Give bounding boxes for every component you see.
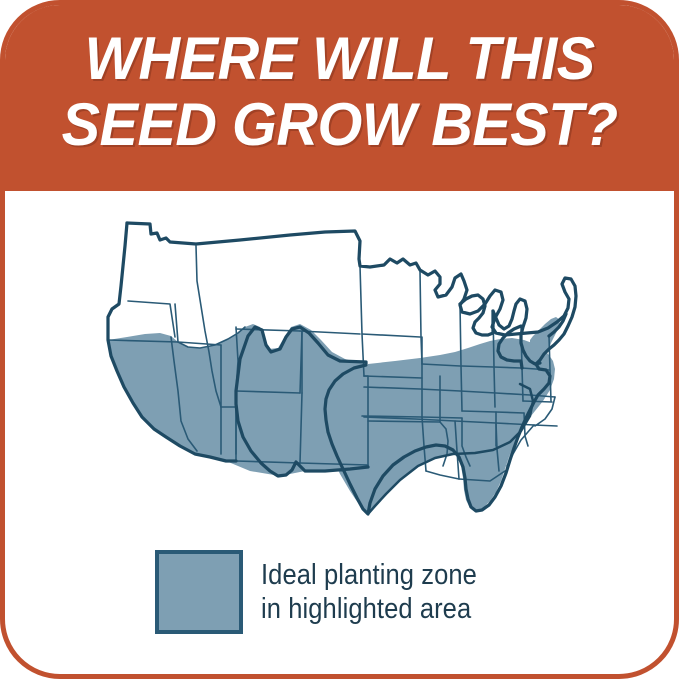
- card-header: WHERE WILL THIS SEED GROW BEST?: [0, 0, 679, 191]
- legend-label: Ideal planting zone in highlighted area: [261, 558, 477, 626]
- us-map-container: [5, 191, 674, 541]
- legend-color-swatch: [155, 550, 243, 634]
- ideal-planting-zone-highlight: [108, 317, 560, 513]
- headline-line-2: SEED GROW BEST?: [61, 92, 617, 158]
- headline-line-1: WHERE WILL THIS: [84, 26, 594, 92]
- us-map-svg: [90, 211, 590, 521]
- legend-label-line-2: in highlighted area: [261, 592, 477, 626]
- map-legend: Ideal planting zone in highlighted area: [155, 550, 506, 634]
- legend-label-line-1: Ideal planting zone: [261, 558, 477, 592]
- seed-zone-card: WHERE WILL THIS SEED GROW BEST?: [0, 0, 679, 679]
